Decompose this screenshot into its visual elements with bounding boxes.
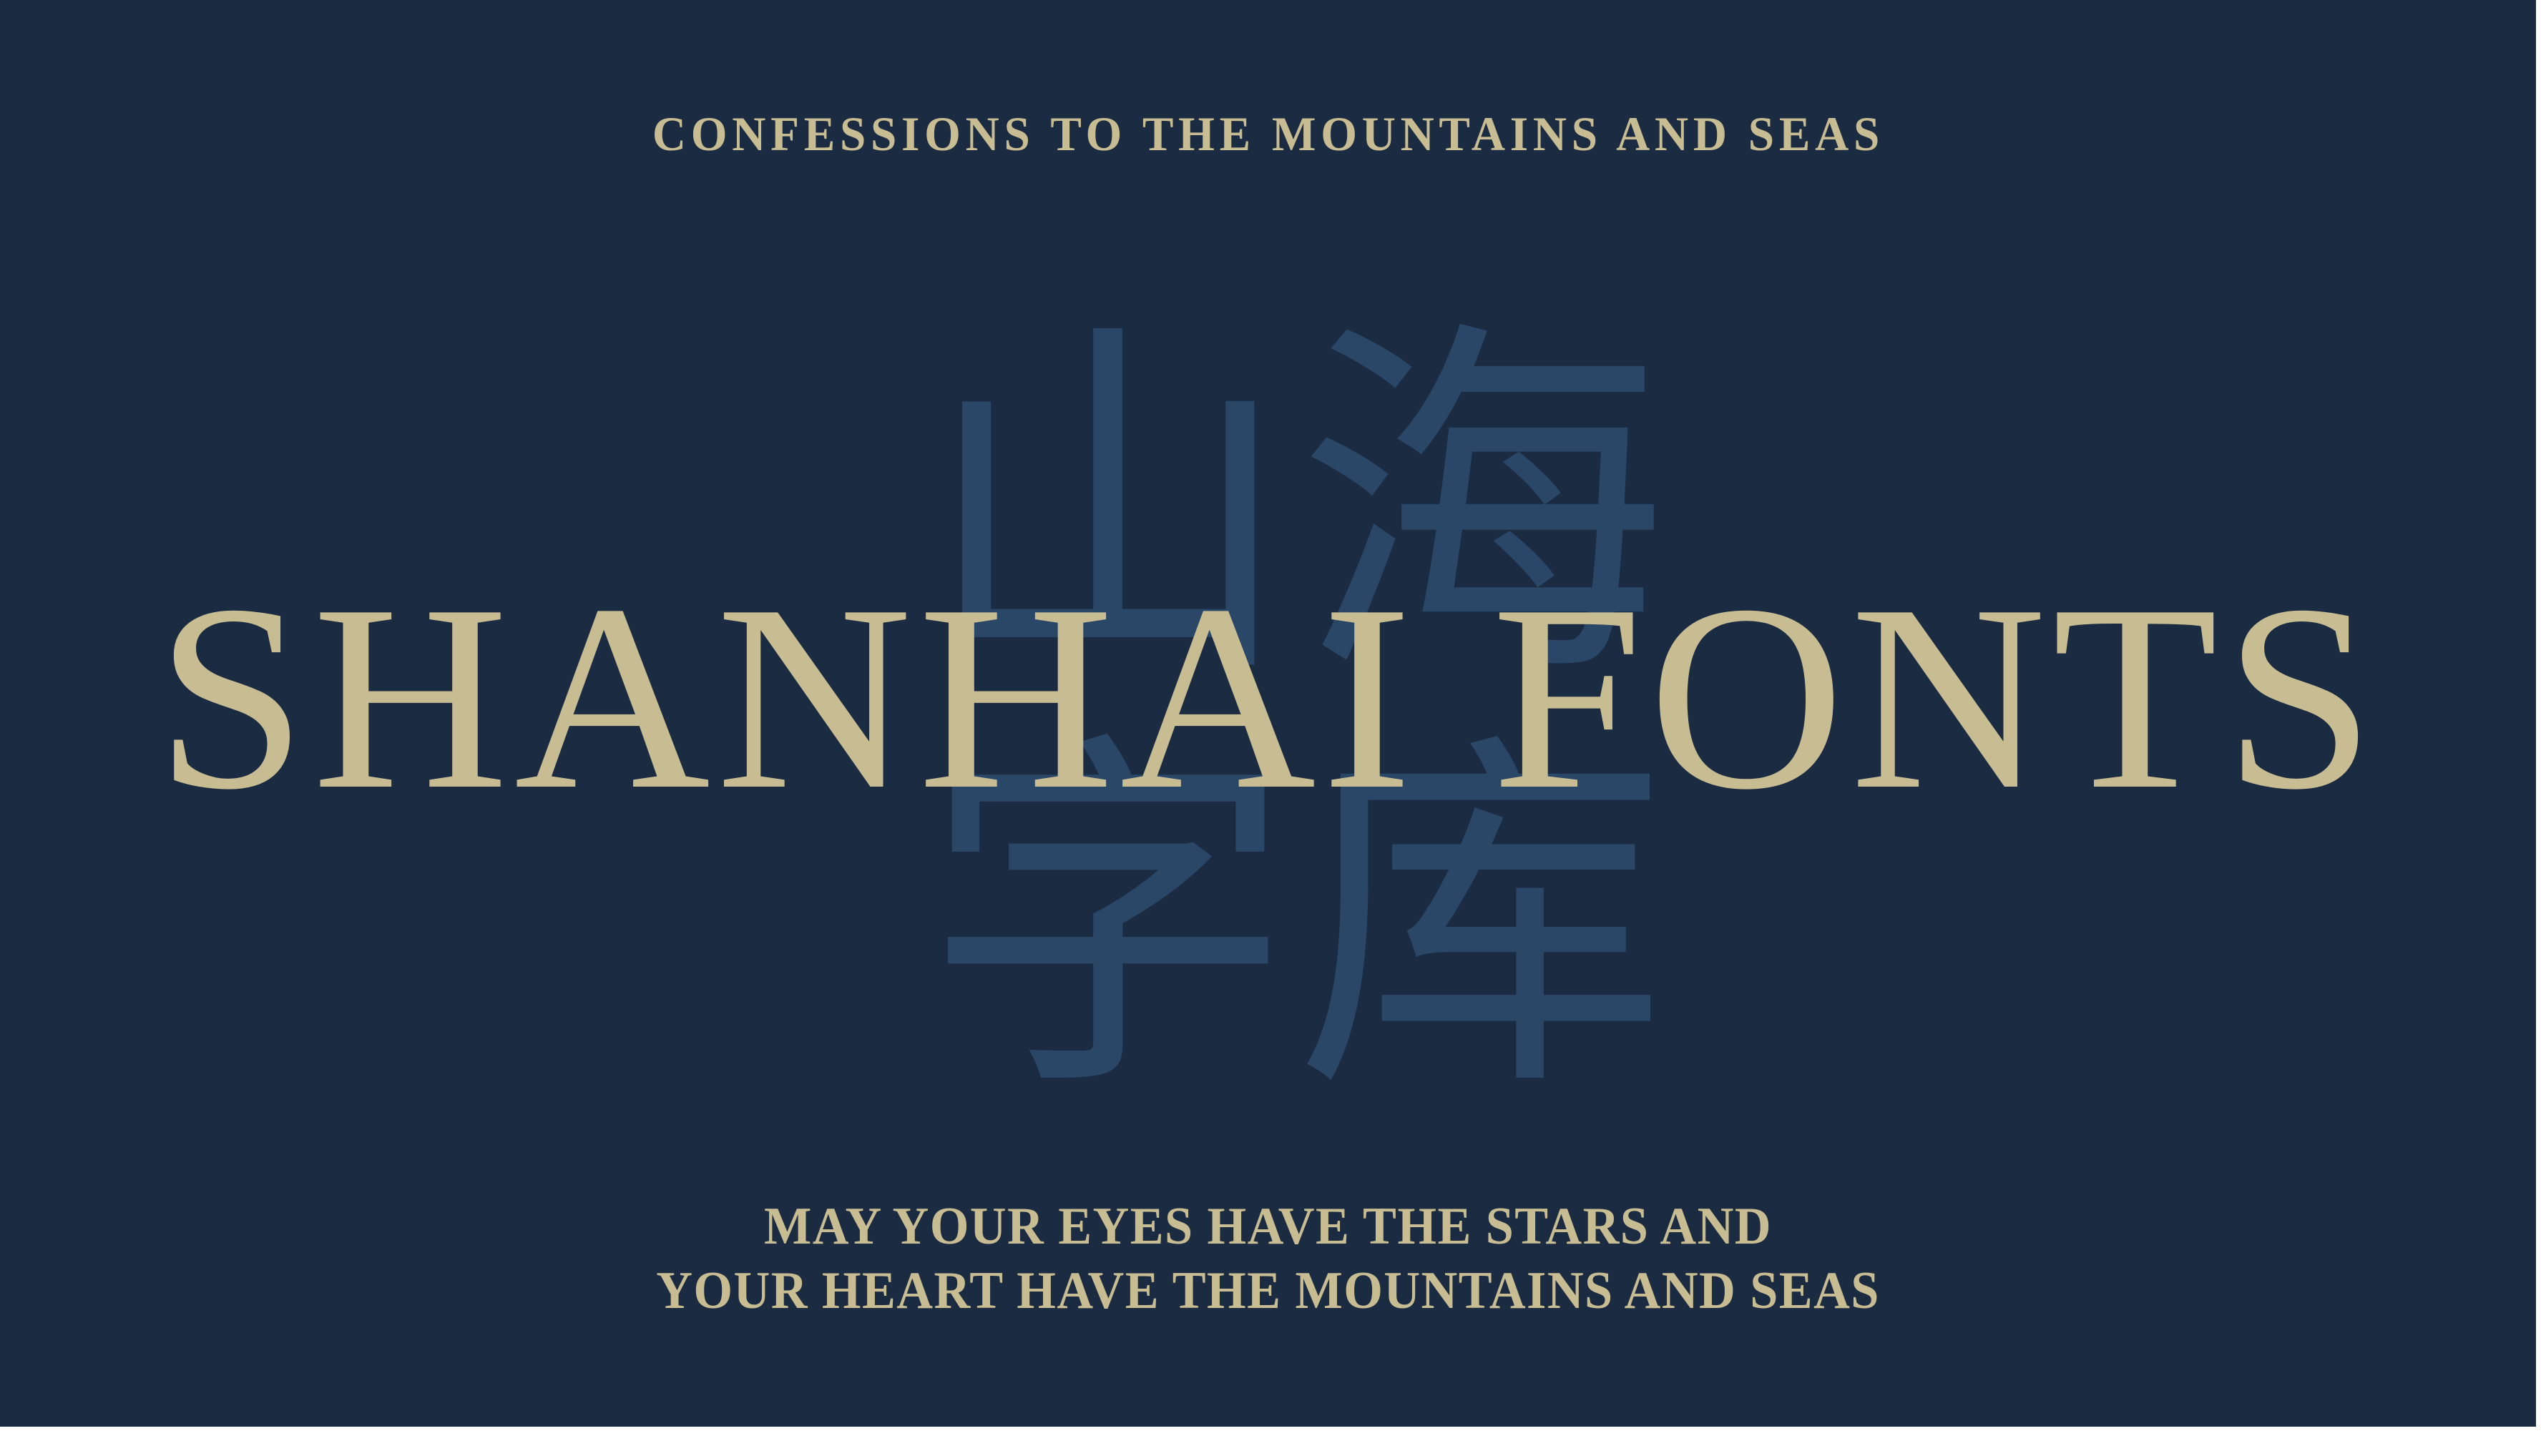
page-title: SHANHAI FONTS [0,565,2536,831]
poster-canvas: 山 海 字 库 CONFESSIONS TO THE MOUNTAINS AND… [0,0,2536,1427]
eyebrow-text: CONFESSIONS TO THE MOUNTAINS AND SEAS [652,107,1884,161]
wordmark-text: SHANHAI FONTS [155,565,2380,831]
tagline-line-1: MAY YOUR EYES HAVE THE STARS AND [64,1194,2473,1259]
tagline-line-2: YOUR HEART HAVE THE MOUNTAINS AND SEAS [64,1259,2473,1323]
eyebrow-heading: CONFESSIONS TO THE MOUNTAINS AND SEAS [0,107,2536,161]
tagline-block: MAY YOUR EYES HAVE THE STARS AND YOUR HE… [0,1194,2536,1324]
